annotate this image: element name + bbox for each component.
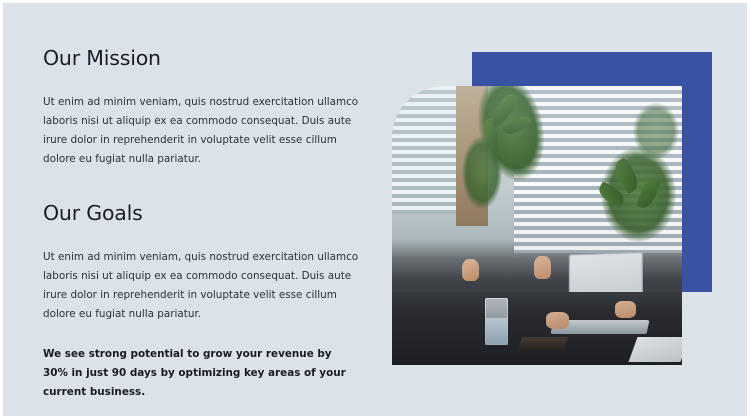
team-photo — [392, 86, 682, 365]
wood-wall-panel — [456, 86, 488, 226]
conference-table — [392, 292, 682, 365]
office-plant-icon — [601, 147, 676, 242]
plant-leaf — [595, 182, 626, 209]
slide-canvas: Our Mission Ut enim ad minim veniam, qui… — [3, 3, 747, 416]
desk-paper — [628, 337, 682, 362]
person-hand — [534, 256, 551, 278]
water-glass-fill — [485, 318, 508, 346]
plant-leaf — [502, 112, 531, 137]
goals-heading: Our Goals — [43, 202, 373, 226]
glasses-icon — [392, 86, 394, 88]
plant-leaf — [489, 90, 519, 129]
laptop-screen — [569, 252, 644, 327]
team-photo-scene — [392, 86, 682, 365]
goals-highlight-statement: We see strong potential to grow your rev… — [43, 345, 355, 402]
plant-leaf — [637, 177, 661, 211]
office-background — [392, 86, 682, 365]
text-column: Our Mission Ut enim ad minim veniam, qui… — [43, 47, 373, 402]
goals-paragraph: Ut enim ad minim veniam, quis nostrud ex… — [43, 248, 368, 324]
table-wood-trim — [552, 299, 683, 320]
office-plant-icon — [462, 136, 503, 209]
office-plant-icon — [633, 103, 679, 159]
desk-keyboard — [518, 337, 568, 351]
plant-leaf — [480, 118, 501, 151]
person-hand — [546, 312, 569, 329]
blue-accent-square — [472, 52, 712, 292]
mission-heading: Our Mission — [43, 47, 373, 71]
mission-paragraph: Ut enim ad minim veniam, quis nostrud ex… — [43, 93, 368, 169]
person-hand — [615, 301, 635, 318]
water-glass — [485, 298, 508, 345]
photo-color-grade — [392, 86, 682, 365]
window-blinds-left — [392, 86, 456, 214]
window-blinds-right — [514, 86, 682, 253]
office-plant-icon — [469, 86, 553, 186]
table-edge — [392, 295, 682, 303]
person-hand — [462, 259, 479, 281]
laptop-base — [550, 320, 649, 334]
plant-leaf — [610, 157, 643, 194]
